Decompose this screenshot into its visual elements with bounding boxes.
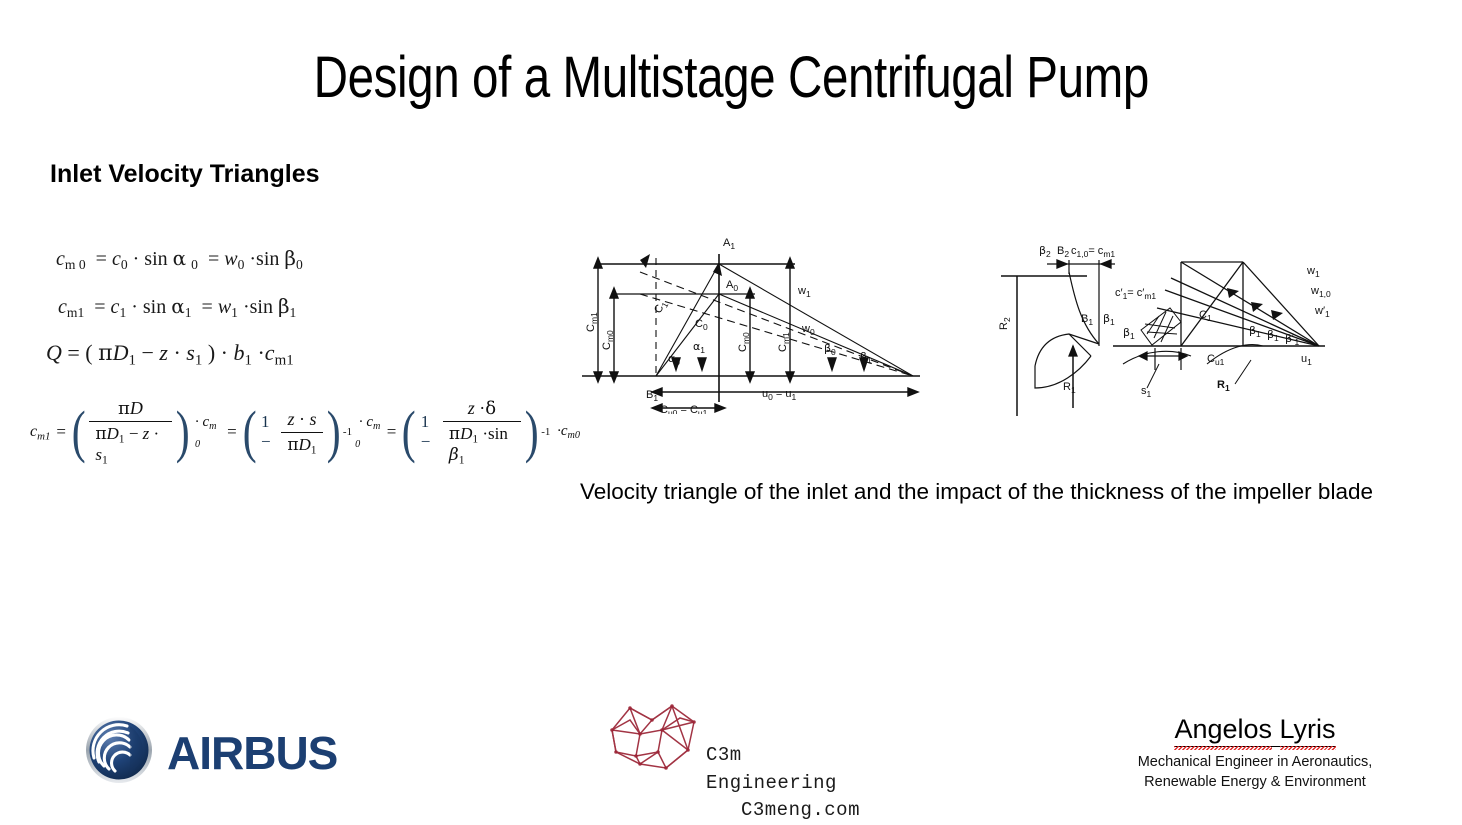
impeller-thickness-diagram: β2 B2 c1,0= cm1 R2 R1 B1 β1 β1 c′1= c′m1… (995, 238, 1355, 416)
label-s1: s1 (1141, 385, 1152, 399)
c3m-line-1: C3m Engineering (706, 744, 837, 794)
label-a1: A1 (723, 237, 735, 251)
expanded-term-2: ( 1 − z · s πD1 )-1 · cm 0 (240, 409, 381, 456)
label-w0: w0 (801, 323, 815, 337)
inlet-velocity-triangle-diagram: A1 A0 B1 Cm1 Cm0 Cm0 Cm1 C1 C0 α1 α0 w1 … (580, 232, 950, 414)
c3m-logo: C3m Engineering C3meng.com (600, 700, 860, 800)
label-beta1-b: β1 (1123, 326, 1135, 341)
label-r2: R2 (998, 317, 1012, 330)
airbus-wordmark: AIRBUS (167, 726, 337, 780)
label-c10: c1,0= cm1 (1071, 245, 1115, 259)
label-c1-right: C1 (1199, 309, 1212, 323)
equation-flowrate: Q = ( πD1 − z · s1 ) · b1 ·cm1 (46, 340, 294, 369)
label-r1: R1 (1063, 381, 1076, 395)
expanded-term-1: ( πD πD1 − z · s1 ) · cm 0 (69, 398, 221, 467)
label-cm0-right: Cm0 (737, 332, 751, 352)
airbus-logo: AIRBUS (85, 716, 337, 789)
c3m-line-2: C3meng.com (706, 797, 860, 825)
label-beta0: β0 (824, 342, 836, 357)
label-beta1-prime: β′1 (1285, 332, 1300, 347)
label-w1-prime: w′1 (1314, 305, 1330, 319)
equation-cm0: cm 0 = c0 · sin α 0 = w0 ·sin β0 (56, 246, 303, 273)
label-c1: C1 (652, 298, 670, 316)
author-block: Angelos Lyris Mechanical Engineer in Aer… (1085, 714, 1425, 792)
page-title-text: Design of a Multistage Centrifugal Pump (313, 44, 1148, 111)
label-alpha0: α0 (668, 352, 680, 367)
label-b1: B1 (1081, 313, 1093, 327)
author-first-name: Angelos (1174, 714, 1272, 745)
caption-line-2: impeller blade (1233, 479, 1373, 504)
section-heading: Inlet Velocity Triangles (50, 160, 320, 189)
label-beta1-c: β1 (1249, 324, 1261, 339)
author-last-name: Lyris (1280, 714, 1336, 745)
label-b2: B2 (1057, 245, 1069, 259)
label-c0: C0 (695, 318, 708, 332)
label-cu1: Cu1 (1207, 353, 1225, 367)
author-subtitle-line-1: Mechanical Engineer in Aeronautics, (1085, 753, 1425, 773)
label-w1-right: w1 (1306, 265, 1320, 279)
label-alpha1: α1 (693, 340, 705, 355)
c3m-mesh-heart-icon (600, 761, 704, 778)
airbus-swirl-icon (85, 716, 153, 789)
label-u1: u1 (1301, 353, 1312, 367)
label-cm1: Cm1 (585, 312, 599, 332)
label-beta2: β2 (1039, 244, 1051, 259)
label-a0: A0 (726, 279, 738, 293)
label-cu-axis: Cu0 = Cu1 (660, 404, 708, 414)
label-c-prime: c′1= c′m1 (1115, 287, 1156, 301)
slide-canvas: Design of a Multistage Centrifugal Pump … (0, 0, 1462, 806)
page-title: Design of a Multistage Centrifugal Pump (0, 44, 1462, 111)
author-name: Angelos Lyris (1174, 714, 1335, 747)
label-r1-bold: R1 (1217, 379, 1230, 393)
label-beta1-a: β1 (1103, 312, 1115, 327)
figure-caption: Velocity triangle of the inlet and the i… (580, 476, 1390, 508)
caption-line-1: Velocity triangle of the inlet and the i… (580, 479, 1227, 504)
label-cm1-right: Cm1 (777, 332, 791, 352)
expanded-term-3: ( 1 − z ·δ πD1 ·sin β1 )-1 ·cm0 (399, 398, 580, 467)
label-u-axis: u0 = u1 (762, 388, 797, 402)
author-subtitle-line-2: Renewable Energy & Environment (1085, 773, 1425, 793)
author-subtitle: Mechanical Engineer in Aeronautics, Rene… (1085, 753, 1425, 792)
label-w1: w1 (797, 285, 811, 299)
equation-cm1-expanded: cm1 = ( πD πD1 − z · s1 ) · cm 0 = ( 1 −… (30, 398, 580, 467)
label-cm0: Cm0 (601, 330, 615, 350)
label-beta1: β1 (860, 350, 872, 365)
label-w10: w1,0 (1310, 285, 1331, 299)
equation-cm1: cm1 = c1 · sin α1 = w1 ·sin β1 (58, 294, 296, 321)
c3m-wordmark: C3m Engineering C3meng.com (706, 742, 860, 825)
